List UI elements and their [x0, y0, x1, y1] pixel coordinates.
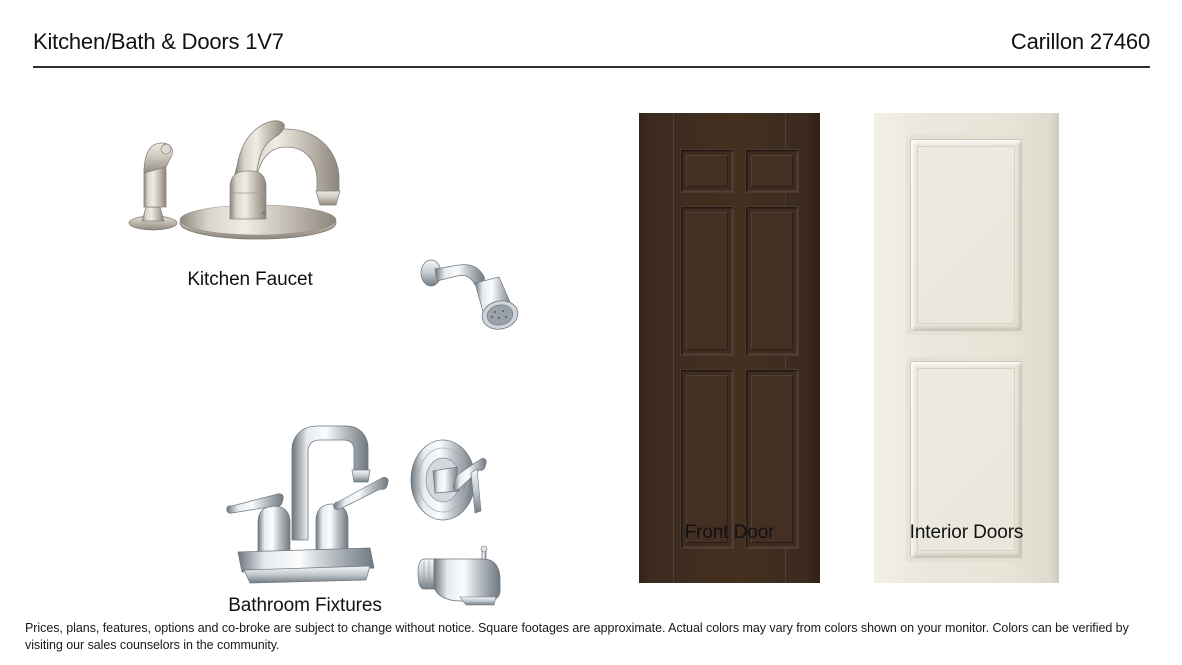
- item-interior-doors[interactable]: Interior Doors: [0, 70, 1182, 570]
- item-caption-bathroom-fixtures: Bathroom Fixtures: [210, 595, 400, 617]
- interior-door-image: [874, 113, 1059, 583]
- page-header: Kitchen/Bath & Doors 1V7 Carillon 27460: [0, 0, 1182, 70]
- item-caption-interior-doors: Interior Doors: [874, 522, 1059, 544]
- legal-disclaimer: Prices, plans, features, options and co-…: [25, 620, 1137, 654]
- header-divider: [33, 66, 1150, 68]
- page-title: Kitchen/Bath & Doors 1V7: [33, 29, 284, 55]
- community-name: Carillon 27460: [1011, 29, 1150, 55]
- product-board: Kitchen Faucet: [0, 70, 1182, 595]
- interior-door-panel-1: [910, 139, 1022, 331]
